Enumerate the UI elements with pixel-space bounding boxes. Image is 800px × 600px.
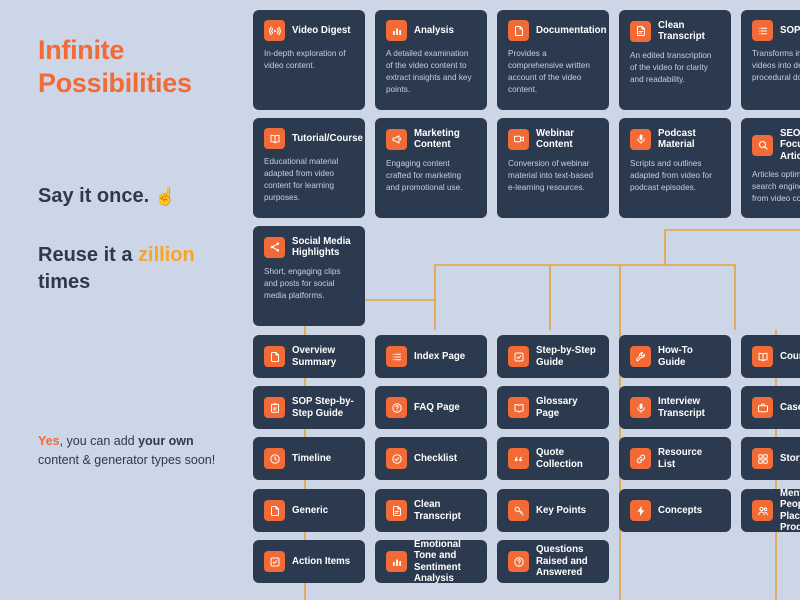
generator-card[interactable]: Overview Summary [253, 335, 365, 378]
check-circle-icon [386, 448, 407, 469]
card-header: Video Digest [264, 20, 354, 41]
card-title: Overview Summary [292, 345, 354, 368]
card-title: Mentioned People, Places and Products [780, 489, 800, 532]
card-header: Timeline [264, 448, 354, 469]
generator-card[interactable]: Tutorial/CourseEducational material adap… [253, 118, 365, 218]
card-title: Case Study [780, 402, 800, 413]
card-header: Action Items [264, 551, 354, 572]
book-icon [264, 128, 285, 149]
check-square-icon [264, 551, 285, 572]
generator-card[interactable]: Podcast MaterialScripts and outlines ada… [619, 118, 731, 218]
card-header: Quote Collection [508, 447, 598, 470]
microphone-icon [630, 129, 651, 150]
bar-chart-icon [386, 20, 407, 41]
card-description: Scripts and outlines adapted from video … [630, 158, 720, 194]
generator-grid: Video DigestIn-depth exploration of vide… [245, 0, 800, 600]
card-header: Marketing Content [386, 128, 476, 151]
card-description: An edited transcription of the video for… [630, 50, 720, 86]
share-icon [264, 237, 285, 258]
check-square-icon [508, 346, 529, 367]
card-description: Transforms instructional videos into det… [752, 48, 800, 84]
card-title: Analysis [414, 25, 454, 36]
card-description: Articles optimized for search engines, c… [752, 169, 800, 205]
card-title: Clean Transcript [658, 20, 720, 43]
card-title: SEO-Focused Articles [780, 128, 800, 162]
bar-chart-icon [386, 551, 407, 572]
quote-icon [508, 448, 529, 469]
card-header: Analysis [386, 20, 476, 41]
card-header: Emotional Tone and Sentiment Analysis [386, 540, 476, 583]
footer-note-bold: your own [138, 434, 194, 448]
link-icon [630, 448, 651, 469]
list-icon [752, 20, 773, 41]
card-title: Index Page [414, 351, 465, 362]
card-header: Storyboard [752, 448, 800, 469]
card-header: Checklist [386, 448, 476, 469]
generator-card[interactable]: FAQ Page [375, 386, 487, 429]
card-title: Quote Collection [536, 447, 598, 470]
briefcase-icon [752, 397, 773, 418]
tagline-reuse-part2: times [38, 271, 90, 293]
card-title: Resource List [658, 447, 720, 470]
card-header: Key Points [508, 500, 598, 521]
generator-card[interactable]: Generic [253, 489, 365, 532]
generator-card[interactable]: Resource List [619, 437, 731, 480]
key-icon [508, 500, 529, 521]
card-title: Checklist [414, 453, 457, 464]
card-header: Documentation [508, 20, 598, 41]
book-icon [752, 346, 773, 367]
generator-card[interactable]: Case Study [741, 386, 800, 429]
generator-card[interactable]: Glossary Page [497, 386, 609, 429]
card-title: Video Digest [292, 25, 351, 36]
generator-card[interactable]: Quote Collection [497, 437, 609, 480]
card-header: Step-by-Step Guide [508, 345, 598, 368]
footer-note-yes: Yes [38, 434, 60, 448]
generator-card[interactable]: Timeline [253, 437, 365, 480]
users-icon [752, 500, 773, 521]
generator-card[interactable]: Emotional Tone and Sentiment Analysis [375, 540, 487, 583]
generator-card[interactable]: Concepts [619, 489, 731, 532]
tagline-say-it-once: Say it once. ☝ [38, 185, 238, 208]
pointing-hand-icon: ☝ [155, 187, 176, 207]
file-icon [264, 500, 285, 521]
clipboard-icon [264, 397, 285, 418]
footer-note: Yes, you can add your own content & gene… [38, 432, 223, 470]
card-header: Clean Transcript [630, 20, 720, 43]
tagline-reuse-part1: Reuse it a [38, 244, 138, 266]
footer-note-end: content & generator types soon! [38, 453, 215, 467]
card-title: Interview Transcript [658, 396, 720, 419]
card-title: Documentation [536, 25, 607, 36]
generator-card[interactable]: Social Media HighlightsShort, engaging c… [253, 226, 365, 326]
file-text-icon [386, 500, 407, 521]
question-circle-icon [508, 551, 529, 572]
card-title: Concepts [658, 505, 702, 516]
card-title: Glossary Page [536, 396, 598, 419]
card-header: Glossary Page [508, 396, 598, 419]
clock-icon [264, 448, 285, 469]
card-title: Clean Transcript [414, 499, 476, 522]
generator-card[interactable]: Video DigestIn-depth exploration of vide… [253, 10, 365, 110]
card-header: SEO-Focused Articles [752, 128, 800, 162]
tagline-reuse-accent: zillion [138, 244, 195, 266]
document-icon [508, 20, 529, 41]
card-title: Timeline [292, 453, 331, 464]
card-header: Clean Transcript [386, 499, 476, 522]
card-title: Podcast Material [658, 128, 720, 151]
generator-card[interactable]: Course [741, 335, 800, 378]
card-header: Overview Summary [264, 345, 354, 368]
card-header: FAQ Page [386, 397, 476, 418]
card-title: Step-by-Step Guide [536, 345, 598, 368]
card-header: Interview Transcript [630, 396, 720, 419]
card-title: SOPs [780, 25, 800, 36]
generator-card[interactable]: AnalysisA detailed examination of the vi… [375, 10, 487, 110]
card-description: In-depth exploration of video content. [264, 48, 354, 72]
generator-card[interactable]: How-To Guide [619, 335, 731, 378]
question-icon [386, 397, 407, 418]
card-title: Tutorial/Course [292, 133, 363, 144]
card-header: SOP Step-by-Step Guide [264, 396, 354, 419]
card-description: Provides a comprehensive written account… [508, 48, 598, 96]
card-header: Questions Raised and Answered [508, 544, 598, 578]
tagline-say-it-once-text: Say it once. [38, 185, 149, 207]
microphone-icon [630, 397, 651, 418]
document-icon [264, 346, 285, 367]
left-panel: Infinite Possibilities Say it once. ☝ Re… [0, 0, 245, 600]
footer-note-rest: , you can add [60, 434, 139, 448]
card-title: Questions Raised and Answered [536, 544, 598, 578]
search-icon [752, 135, 773, 156]
card-description: Educational material adapted from video … [264, 156, 354, 204]
card-header: Podcast Material [630, 128, 720, 151]
card-header: Case Study [752, 397, 800, 418]
wrench-icon [630, 346, 651, 367]
card-description: A detailed examination of the video cont… [386, 48, 476, 96]
card-header: Resource List [630, 447, 720, 470]
generator-card[interactable]: Storyboard [741, 437, 800, 480]
generator-card[interactable]: Webinar ContentConversion of webinar mat… [497, 118, 609, 218]
generator-card[interactable]: Interview Transcript [619, 386, 731, 429]
card-title: How-To Guide [658, 345, 720, 368]
card-header: Index Page [386, 346, 476, 367]
generator-card[interactable]: Mentioned People, Places and Products [741, 489, 800, 532]
generator-card[interactable]: Clean TranscriptAn edited transcription … [619, 10, 731, 110]
card-header: Webinar Content [508, 128, 598, 151]
card-title: Course [780, 351, 800, 362]
card-header: Social Media Highlights [264, 236, 354, 259]
generator-card[interactable]: SOP Step-by-Step Guide [253, 386, 365, 429]
page-title: Infinite Possibilities [38, 34, 238, 100]
list-icon [386, 346, 407, 367]
generator-card[interactable]: Marketing ContentEngaging content crafte… [375, 118, 487, 218]
generator-card[interactable]: Index Page [375, 335, 487, 378]
book-open-icon [508, 397, 529, 418]
generator-card[interactable]: SEO-Focused ArticlesArticles optimized f… [741, 118, 800, 218]
generator-card[interactable]: Questions Raised and Answered [497, 540, 609, 583]
lightning-icon [630, 500, 651, 521]
card-title: Storyboard [780, 453, 800, 464]
tagline-reuse: Reuse it a zillion times [38, 242, 238, 296]
file-text-icon [630, 21, 651, 42]
card-title: Social Media Highlights [292, 236, 354, 259]
card-description: Short, engaging clips and posts for soci… [264, 266, 354, 302]
card-title: Marketing Content [414, 128, 476, 151]
card-header: Tutorial/Course [264, 128, 354, 149]
card-title: Key Points [536, 505, 586, 516]
card-title: Generic [292, 505, 328, 516]
generator-card[interactable]: Clean Transcript [375, 489, 487, 532]
generator-card[interactable]: SOPsTransforms instructional videos into… [741, 10, 800, 110]
card-header: Generic [264, 500, 354, 521]
grid-icon [752, 448, 773, 469]
card-title: SOP Step-by-Step Guide [292, 396, 354, 419]
card-header: SOPs [752, 20, 800, 41]
video-icon [508, 129, 529, 150]
card-title: Action Items [292, 556, 350, 567]
card-header: Course [752, 346, 800, 367]
card-title: Emotional Tone and Sentiment Analysis [414, 540, 476, 583]
generator-card[interactable]: Key Points [497, 489, 609, 532]
card-title: FAQ Page [414, 402, 460, 413]
generator-card[interactable]: Step-by-Step Guide [497, 335, 609, 378]
generator-card[interactable]: Action Items [253, 540, 365, 583]
generator-card[interactable]: DocumentationProvides a comprehensive wr… [497, 10, 609, 110]
card-header: Concepts [630, 500, 720, 521]
card-header: How-To Guide [630, 345, 720, 368]
card-description: Conversion of webinar material into text… [508, 158, 598, 194]
megaphone-icon [386, 129, 407, 150]
broadcast-icon [264, 20, 285, 41]
card-title: Webinar Content [536, 128, 598, 151]
card-description: Engaging content crafted for marketing a… [386, 158, 476, 194]
card-header: Mentioned People, Places and Products [752, 489, 800, 532]
generator-card[interactable]: Checklist [375, 437, 487, 480]
